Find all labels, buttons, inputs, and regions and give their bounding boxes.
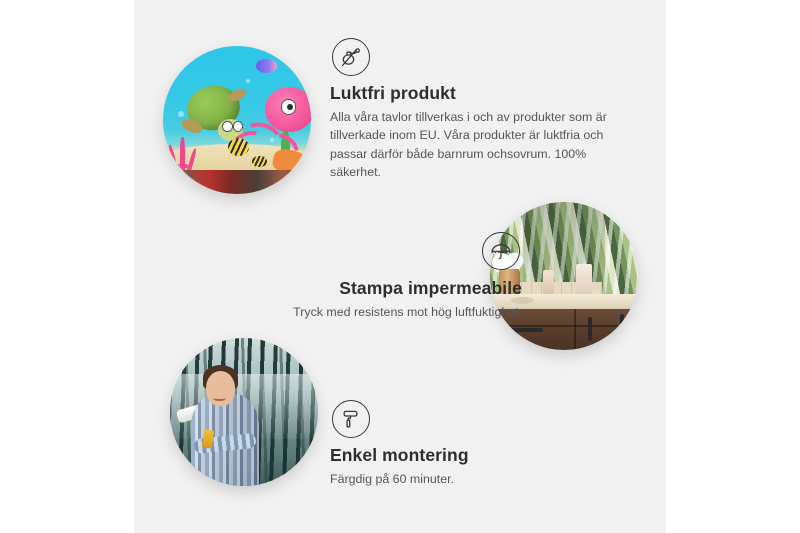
fish-purple [256,59,277,72]
feature-body: Tryck med resistens mot hög luftfuktighe… [182,303,522,321]
product-photo-ocean[interactable] [163,46,311,194]
bottle [543,270,553,297]
cabinet-seam [574,309,576,350]
bottle [576,264,592,297]
fish-yellow [252,156,267,168]
no-spray-bottle-icon [332,38,370,76]
feature-title: Stampa impermeabile [182,278,522,298]
ocean-scene [163,46,311,194]
drawer-handle [511,328,544,332]
feature-title: Luktfri produkt [330,83,630,103]
fish-yellow [228,138,249,156]
content-canvas: Luktfri produkt Alla våra tavlor tillver… [134,0,666,533]
cabinet-handle [588,317,592,341]
cabinet-handle [620,314,624,341]
feature-odorless: Luktfri produkt Alla våra tavlor tillver… [330,38,630,182]
painter-scene [170,338,318,486]
bubble-icon [246,79,250,83]
feature-mounting: Enkel montering Färgdig på 60 minuter. [330,400,630,488]
feature-body: Alla våra tavlor tillverkas i och av pro… [330,108,630,181]
icon-row [182,232,520,270]
photo-bottom-strip [181,170,305,194]
page-root: Luktfri produkt Alla våra tavlor tillver… [0,0,800,533]
bubble-icon [178,111,184,117]
product-photo-painter[interactable] [170,338,318,486]
feature-title: Enkel montering [330,445,630,465]
woman-face [206,371,236,407]
paint-roller-icon [332,400,370,438]
feature-waterproof: Stampa impermeabile Tryck med resistens … [182,232,522,321]
feature-body: Färgdig på 60 minuter. [330,470,630,488]
drawer-seam [493,325,638,327]
octopus-pupil [287,104,293,110]
woman-smile [213,393,226,401]
umbrella-icon [482,232,520,270]
